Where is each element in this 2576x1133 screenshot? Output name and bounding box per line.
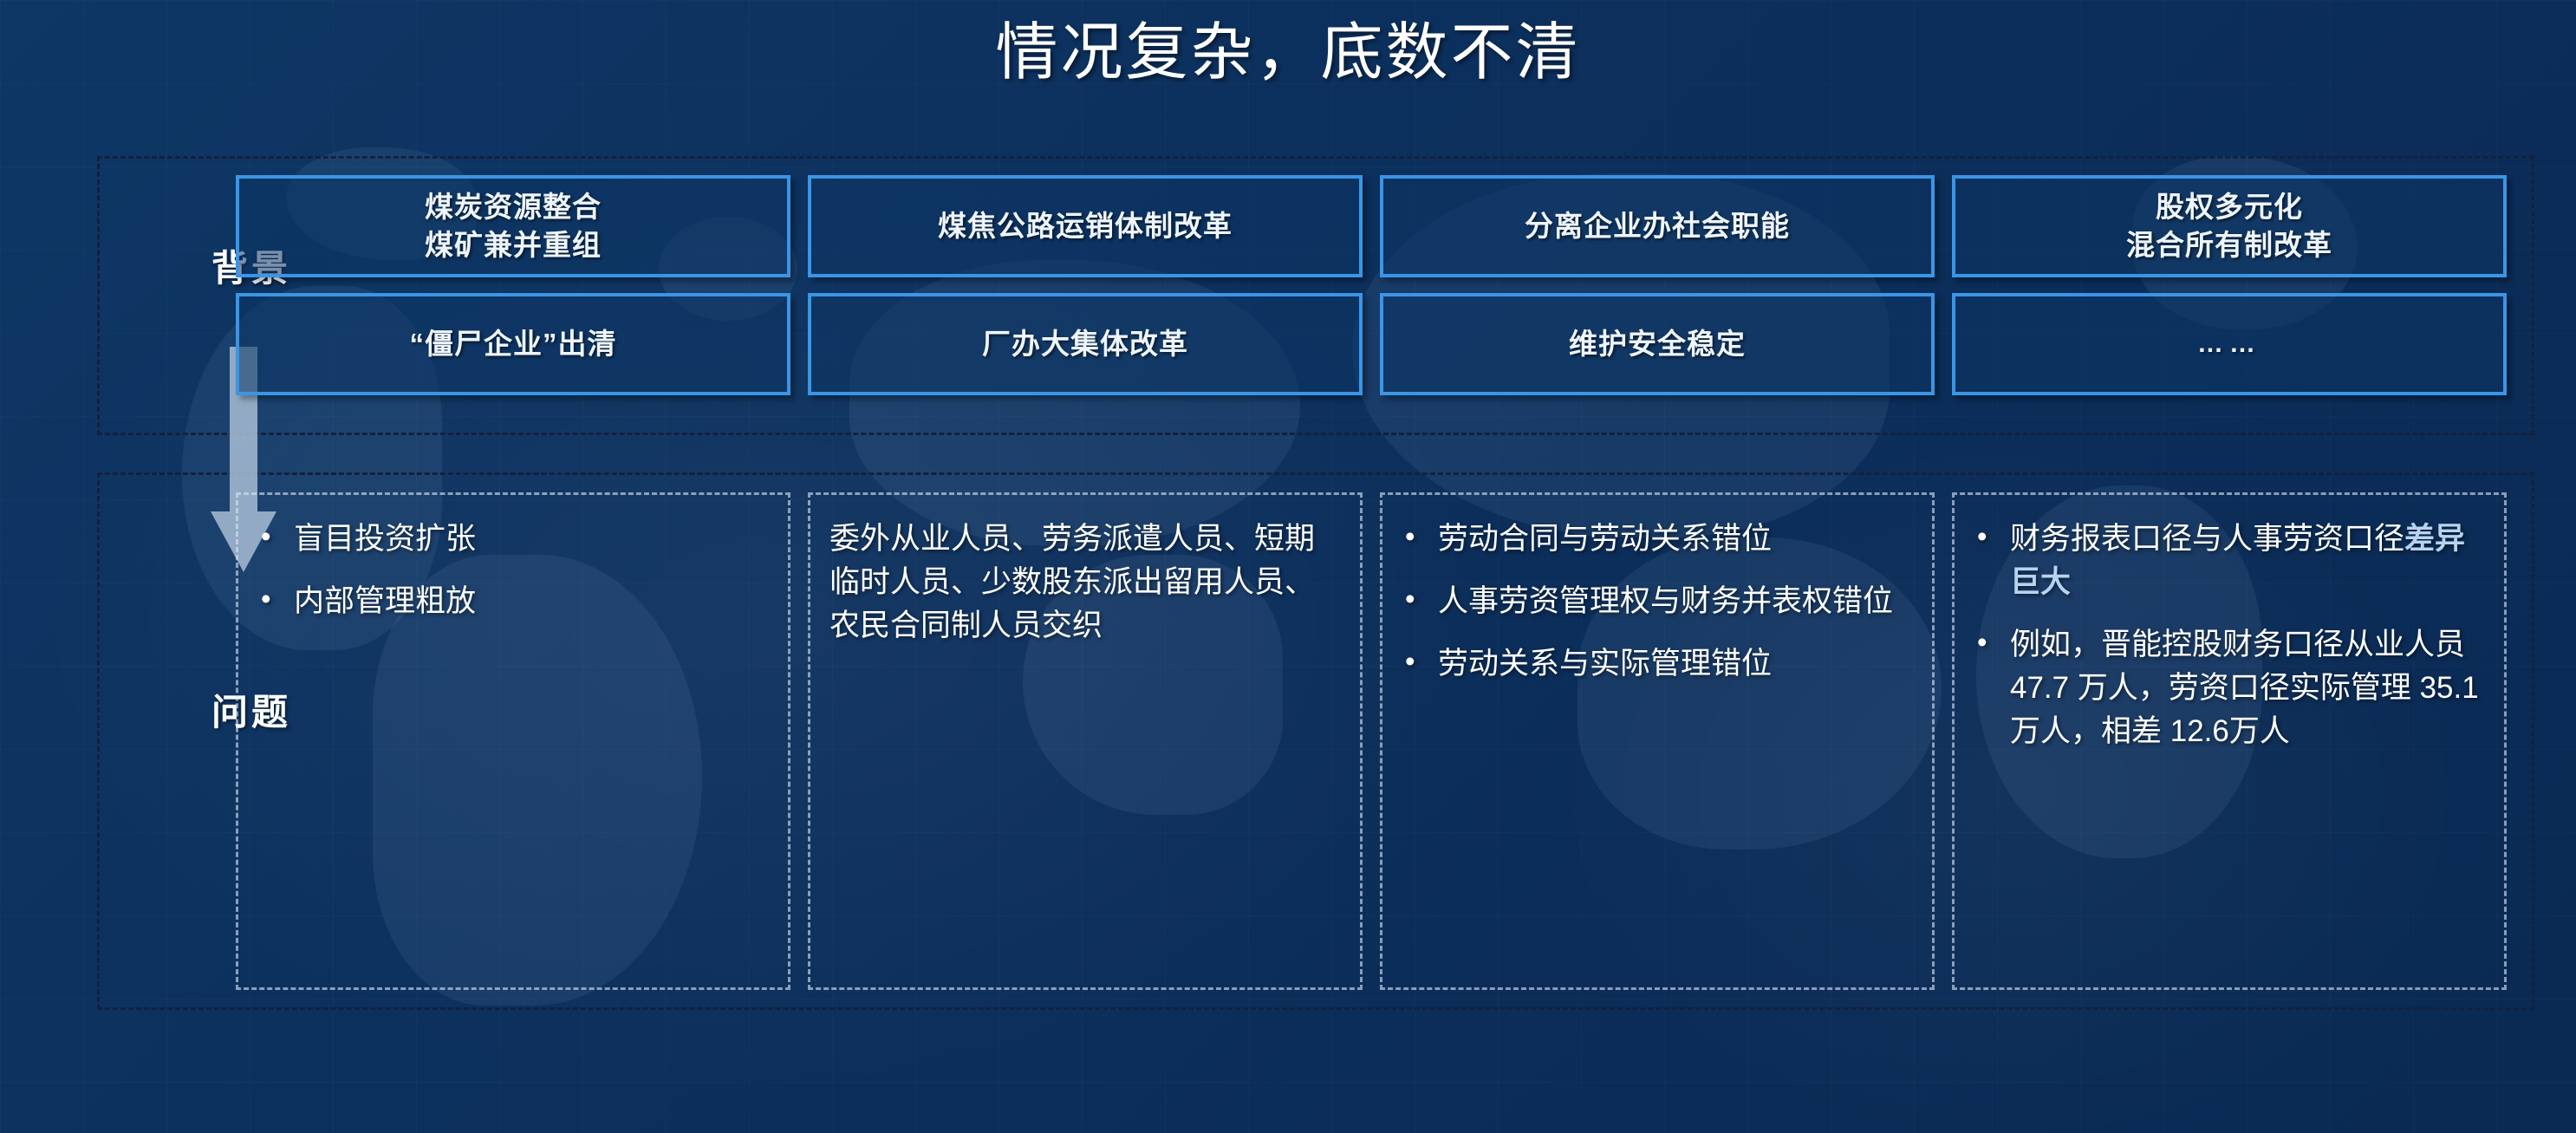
background-chip[interactable]: 煤炭资源整合 煤矿兼并重组 [236,175,790,277]
list-item: 盲目投资扩张 [254,518,769,561]
list-item: 劳动合同与劳动关系错位 [1398,518,1913,561]
background-chip[interactable]: 分离企业办社会职能 [1380,175,1935,277]
problem-column-grid: 盲目投资扩张 内部管理粗放 委外从业人员、劳务派遣人员、短期临时人员、少数股东派… [236,492,2507,990]
background-chip[interactable]: 股权多元化 混合所有制改革 [1952,175,2507,277]
background-chip[interactable]: …… [1952,293,2507,395]
background-chip[interactable]: 煤焦公路运销体制改革 [808,175,1363,277]
list-item: 例如，晋能控股财务口径从业人员 47.7 万人，劳资口径实际管理 35.1万人，… [1970,623,2485,753]
problem-paragraph: 委外从业人员、劳务派遣人员、短期临时人员、少数股东派出留用人员、农民合同制人员交… [826,518,1341,648]
problem-bullet-list: 盲目投资扩张 内部管理粗放 [254,518,769,623]
background-chip[interactable]: 厂办大集体改革 [808,293,1363,395]
problem-bullet-list: 劳动合同与劳动关系错位 人事劳资管理权与财务并表权错位 劳动关系与实际管理错位 [1398,518,1913,686]
list-item: 内部管理粗放 [254,580,769,623]
problem-column: 盲目投资扩张 内部管理粗放 [236,492,790,990]
list-item: 人事劳资管理权与财务并表权错位 [1398,580,1913,623]
list-item-text: 例如，晋能控股财务口径从业人员 47.7 万人，劳资口径实际管理 35.1万人，… [2010,628,2479,748]
page-title: 情况复杂，底数不清 [0,14,2576,92]
problem-column: 劳动合同与劳动关系错位 人事劳资管理权与财务并表权错位 劳动关系与实际管理错位 [1380,492,1935,990]
problem-column: 财务报表口径与人事劳资口径差异巨大 例如，晋能控股财务口径从业人员 47.7 万… [1952,492,2507,990]
list-item: 财务报表口径与人事劳资口径差异巨大 [1970,518,2485,604]
background-chip[interactable]: 维护安全稳定 [1380,293,1935,395]
problem-bullet-list: 财务报表口径与人事劳资口径差异巨大 例如，晋能控股财务口径从业人员 47.7 万… [1970,518,2485,753]
background-chip-grid: 煤炭资源整合 煤矿兼并重组 煤焦公路运销体制改革 分离企业办社会职能 股权多元化… [236,175,2507,416]
problem-column: 委外从业人员、劳务派遣人员、短期临时人员、少数股东派出留用人员、农民合同制人员交… [808,492,1363,990]
list-item-text: 财务报表口径与人事劳资口径 [2010,522,2404,556]
background-chip[interactable]: “僵尸企业”出清 [236,293,790,395]
list-item: 劳动关系与实际管理错位 [1398,642,1913,686]
